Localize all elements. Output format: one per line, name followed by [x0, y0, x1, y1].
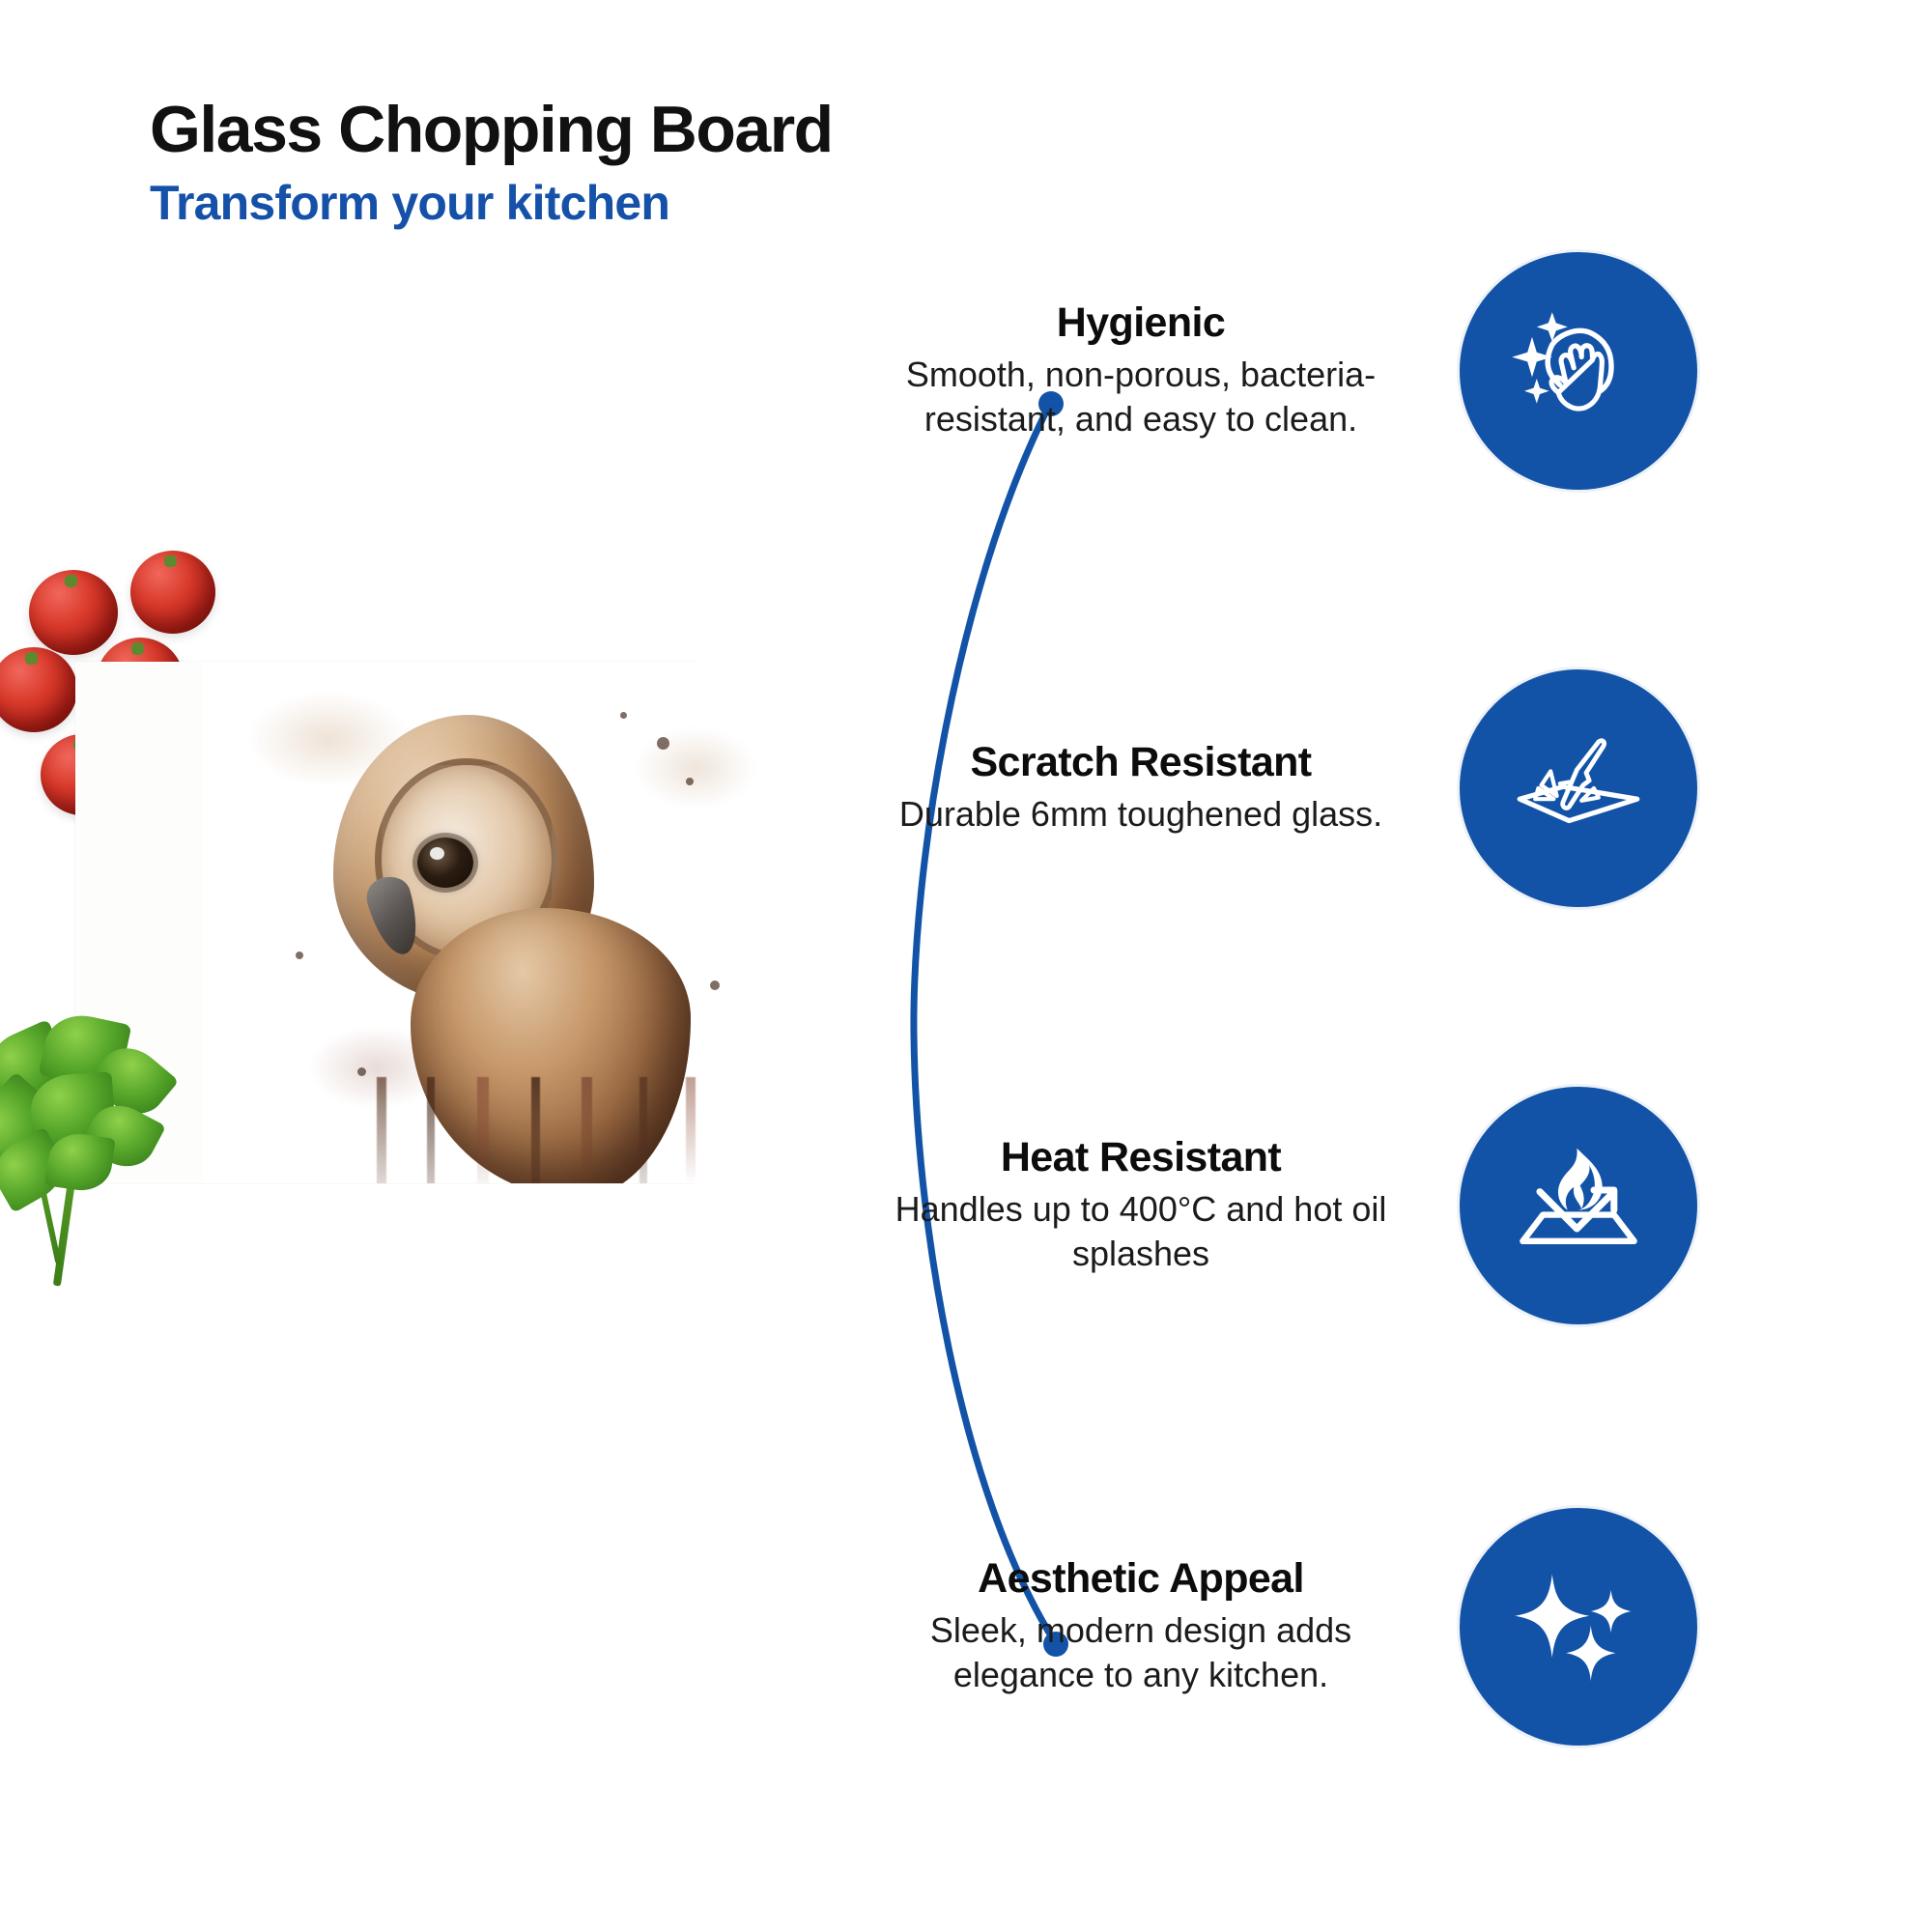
feature-description: Sleek, modern design adds elegance to an…: [869, 1608, 1412, 1697]
header-block: Glass Chopping Board Transform your kitc…: [150, 95, 1116, 230]
owl-artwork: [203, 662, 821, 1183]
feature-description: Smooth, non-porous, bacteria-resistant, …: [869, 353, 1412, 441]
paint-speck: [686, 778, 694, 785]
knife-on-surface-icon[interactable]: [1457, 667, 1700, 910]
page-subtitle: Transform your kitchen: [150, 177, 1116, 230]
feature-row-scratch-resistant: Scratch Resistant Durable 6mm toughened …: [869, 667, 1700, 910]
feature-title: Scratch Resistant: [869, 740, 1412, 785]
connector-curve: [869, 367, 1159, 1681]
paint-speck: [657, 737, 669, 750]
feature-row-aesthetic-appeal: Aesthetic Appeal Sleek, modern design ad…: [869, 1505, 1700, 1748]
owl-eye: [417, 838, 473, 888]
feature-title: Hygienic: [869, 300, 1412, 346]
feature-title: Heat Resistant: [869, 1135, 1412, 1180]
paint-speck: [710, 980, 720, 990]
parsley-sprig: [0, 1014, 203, 1294]
feature-text-block: Scratch Resistant Durable 6mm toughened …: [869, 740, 1416, 836]
page-title: Glass Chopping Board: [150, 95, 1116, 165]
sparkles-icon[interactable]: [1457, 1505, 1700, 1748]
feature-title: Aesthetic Appeal: [869, 1556, 1412, 1602]
feature-description: Durable 6mm toughened glass.: [869, 792, 1412, 837]
paint-drips: [357, 1077, 744, 1183]
feature-text-block: Hygienic Smooth, non-porous, bacteria-re…: [869, 300, 1416, 440]
feature-row-heat-resistant: Heat Resistant Handles up to 400°C and h…: [869, 1084, 1700, 1327]
feature-text-block: Aesthetic Appeal Sleek, modern design ad…: [869, 1556, 1416, 1696]
feature-text-block: Heat Resistant Handles up to 400°C and h…: [869, 1135, 1416, 1275]
flame-deflect-icon[interactable]: [1457, 1084, 1700, 1327]
paint-speck: [620, 712, 627, 719]
tomato: [130, 551, 215, 634]
tomato: [29, 570, 118, 655]
hand-wipe-sparkle-icon[interactable]: [1457, 249, 1700, 493]
feature-description: Handles up to 400°C and hot oil splashes: [869, 1187, 1412, 1276]
tomato: [0, 647, 77, 732]
paint-speck: [296, 952, 303, 959]
paint-speck: [357, 1067, 366, 1076]
feature-row-hygienic: Hygienic Smooth, non-porous, bacteria-re…: [869, 249, 1700, 493]
